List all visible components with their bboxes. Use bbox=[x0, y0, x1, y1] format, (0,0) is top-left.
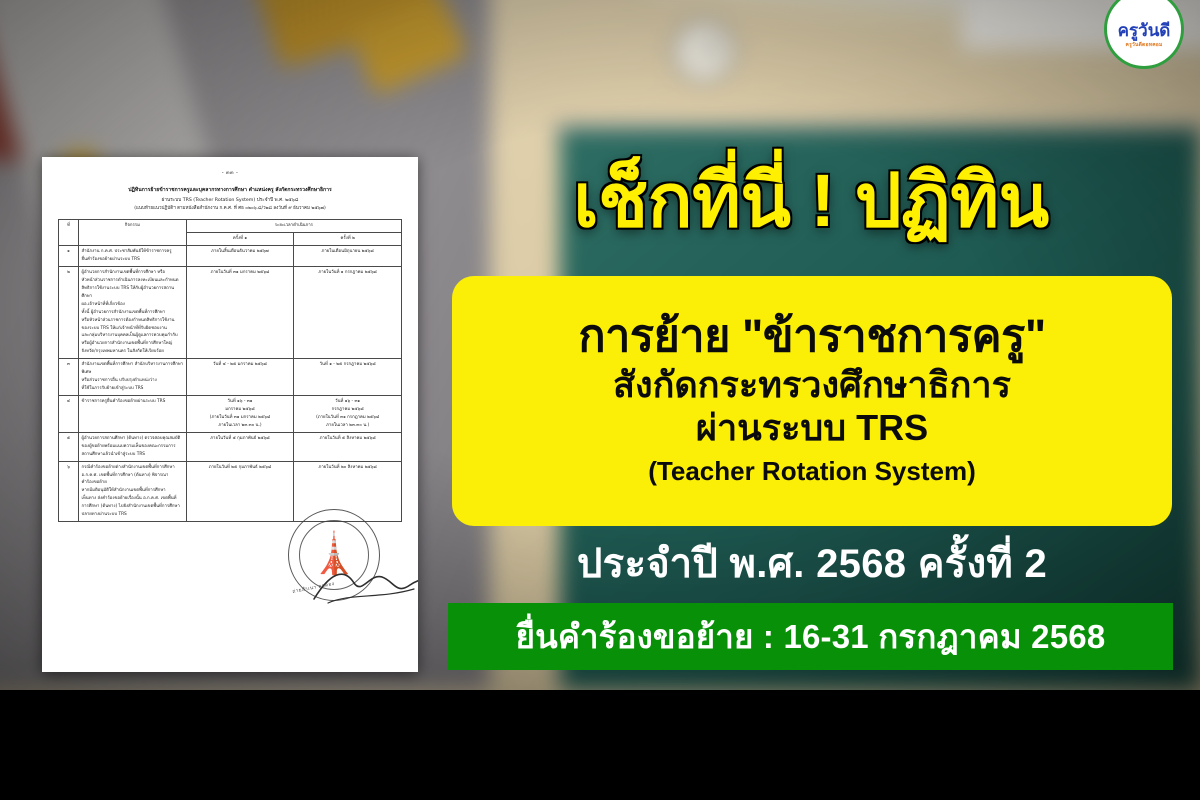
activity-line: หรือส่วนราชการอื่น ปรับปรุงตำแหน่งว่าง bbox=[82, 377, 184, 385]
date-line: ภายในสิ้นเดือนธันวาคม ๒๕๖๗ bbox=[189, 248, 291, 256]
date-line: วันที่ ๑ - ๒๕ กรกฎาคม ๒๕๖๘ bbox=[297, 361, 399, 369]
signature-mark bbox=[310, 555, 418, 613]
site-watermark-logo[interactable]: ครูวันดี ครูวันดีดอทคอม bbox=[1104, 3, 1184, 57]
cell-round-1: ภายในวันที่ ๒๕ กุมภาพันธ์ ๒๕๖๘ bbox=[186, 461, 294, 522]
activity-line: ปลายทางผ่านระบบ TRS bbox=[82, 511, 184, 519]
activity-line: อ.ก.ค.ศ. เขตพื้นที่การศึกษา (ต้นทาง) พิจ… bbox=[82, 472, 184, 480]
activity-line: ทั้งนี้ ผู้อำนวยการสำนักงานเขตพื้นที่การ… bbox=[82, 309, 184, 317]
document-reference-note: (แนบท้ายแนวปฏิบัติฯ ตามหนังสือสำนักงาน ก… bbox=[58, 205, 402, 213]
date-line: ภายในเวลา ๒๓.๓๐ น.) bbox=[189, 422, 291, 430]
year-round-line: ประจำปี พ.ศ. 2568 ครั้งที่ 2 bbox=[452, 540, 1172, 588]
header-round-2: ครั้งที่ ๒ bbox=[294, 233, 402, 246]
calendar-table-head: ที่ กิจกรรม ระยะเวลาดำเนินการ ครั้งที่ ๑… bbox=[59, 220, 402, 246]
cell-activity: ผู้อำนวยการสำนักงานเขตพื้นที่การศึกษา หร… bbox=[79, 266, 187, 358]
calendar-table: ที่ กิจกรรม ระยะเวลาดำเนินการ ครั้งที่ ๑… bbox=[58, 219, 402, 522]
activity-line: ของระบบ TRS ให้แก่เจ้าหน้าที่ที่รับผิดชอ… bbox=[82, 325, 184, 333]
submission-period-bar: ยื่นคำร้องขอย้าย : 16-31 กรกฎาคม 2568 bbox=[448, 603, 1173, 670]
activity-line: หรือหัวหน้าส่วนราชการต้องกำหนดสิทธิการใช… bbox=[82, 317, 184, 325]
card-line-4: (Teacher Rotation System) bbox=[648, 454, 975, 489]
activity-line: กรณีคำร้องขอย้ายต่างสำนักงานเขตพื้นที่กา… bbox=[82, 464, 184, 472]
table-row: ๑สำนักงาน ก.ค.ศ. ประชาสัมพันธ์ให้ข้าราชก… bbox=[59, 246, 402, 267]
date-line: ภายในเวลา ๒๓.๓๐ น.) bbox=[297, 422, 399, 430]
card-line-2: สังกัดกระทรวงศึกษาธิการ bbox=[613, 362, 1011, 409]
cell-activity: ข้าราชการครูยื่นคำร้องขอย้ายผ่านระบบ TRS bbox=[79, 396, 187, 433]
activity-line: ผู้อำนวยการสำนักงานเขตพื้นที่การศึกษา หร… bbox=[82, 269, 184, 277]
date-line: ภายในวันที่ ๒๐ สิงหาคม ๒๕๖๘ bbox=[297, 464, 399, 472]
date-line: ภายในวันที่ ๓๑ มกราคม ๒๕๖๘ bbox=[189, 269, 291, 277]
date-line: ภายในวันที่ ๒๕ กุมภาพันธ์ ๒๕๖๘ bbox=[189, 464, 291, 472]
cell-no: ๖ bbox=[59, 461, 79, 522]
activity-line: สิทธิการใช้งานระบบ TRS ให้กับผู้อำนวยการ… bbox=[82, 285, 184, 301]
activity-line: คำร้องขอย้าย bbox=[82, 479, 184, 487]
date-line: วันที่ ๔ - ๒๕ มกราคม ๒๕๖๘ bbox=[189, 361, 291, 369]
date-line: (ภายในวันที่ ๓๑ มกราคม ๒๕๖๘ bbox=[189, 414, 291, 422]
cell-round-2: วันที่ ๑ - ๒๕ กรกฎาคม ๒๕๖๘ bbox=[294, 359, 402, 396]
activity-line: ผู้อำนวยการสถานศึกษา (ต้นทาง) ตรวจสอบคุณ… bbox=[82, 435, 184, 443]
cell-round-2: ภายในวันที่ ๑ กรกฎาคม ๒๕๖๘ bbox=[294, 266, 402, 358]
card-line-1: การย้าย "ข้าราชการครู" bbox=[578, 309, 1045, 364]
date-line: มกราคม ๒๕๖๘ bbox=[189, 406, 291, 414]
activity-line: สำนักงานเขตพื้นที่การศึกษา สำนักบริหารงา… bbox=[82, 361, 184, 377]
cell-no: ๔ bbox=[59, 396, 79, 433]
cell-round-2: ภายในวันที่ ๕ สิงหาคม ๒๕๖๘ bbox=[294, 432, 402, 461]
date-line: (ภายในวันที่ ๓๑ กรกฎาคม ๒๕๖๘ bbox=[297, 414, 399, 422]
signature-icon bbox=[310, 555, 418, 613]
table-row: ๔ข้าราชการครูยื่นคำร้องขอย้ายผ่านระบบ TR… bbox=[59, 396, 402, 433]
document-page-number: - ๓๓ - bbox=[58, 169, 402, 177]
cell-activity: กรณีคำร้องขอย้ายต่างสำนักงานเขตพื้นที่กา… bbox=[79, 461, 187, 522]
cell-round-2: วันที่ ๑๖ - ๓๑กรกฎาคม ๒๕๖๘(ภายในวันที่ ๓… bbox=[294, 396, 402, 433]
document-title: ปฏิทินการย้ายข้าราชการครูและบุคลากรทางกา… bbox=[58, 186, 402, 195]
cell-round-1: ภายในวันที่ ๕ กุมภาพันธ์ ๒๕๖๘ bbox=[186, 432, 294, 461]
activity-line: ยื่นคำร้องขอย้ายผ่านระบบ TRS bbox=[82, 256, 184, 264]
cell-round-2: ภายในเดือนมิถุนายน ๒๕๖๘ bbox=[294, 246, 402, 267]
yellow-info-card: การย้าย "ข้าราชการครู" สังกัดกระทรวงศึกษ… bbox=[452, 276, 1172, 526]
activity-line: ข้าราชการครูยื่นคำร้องขอย้ายผ่านระบบ TRS bbox=[82, 398, 184, 406]
activity-line: หากมีมติอนุมัติให้สำนักงานเขตพื้นที่การศ… bbox=[82, 487, 184, 495]
activity-line: ที่ใช้ในการรับย้ายเข้าสู่ระบบ TRS bbox=[82, 385, 184, 393]
calendar-table-body: ๑สำนักงาน ก.ค.ศ. ประชาสัมพันธ์ให้ข้าราชก… bbox=[59, 246, 402, 522]
cell-round-1: วันที่ ๑๖ - ๓๑มกราคม ๒๕๖๘(ภายในวันที่ ๓๑… bbox=[186, 396, 294, 433]
bottom-black-band bbox=[0, 690, 1200, 800]
header-no: ที่ bbox=[59, 220, 79, 246]
activity-line: ของผู้ขอย้ายพร้อมแนบความเห็นของคณะกรรมกา… bbox=[82, 443, 184, 451]
date-line: ภายในวันที่ ๕ กุมภาพันธ์ ๒๕๖๘ bbox=[189, 435, 291, 443]
poster-headline: เช็กที่นี่ ! ปฏิทิน bbox=[450, 160, 1172, 243]
date-line: กรกฎาคม ๒๕๖๘ bbox=[297, 406, 399, 414]
cell-activity: ผู้อำนวยการสถานศึกษา (ต้นทาง) ตรวจสอบคุณ… bbox=[79, 432, 187, 461]
activity-line: ผอ.เจ้าหน้าที่ที่เกี่ยวข้อง bbox=[82, 301, 184, 309]
activity-line: สถานศึกษาแล้วนำเข้าสู่ระบบ TRS bbox=[82, 451, 184, 459]
table-row: ๓สำนักงานเขตพื้นที่การศึกษา สำนักบริหารง… bbox=[59, 359, 402, 396]
activity-line: การศึกษา (ต้นทาง) ไปยังสำนักงานเขตพื้นที… bbox=[82, 503, 184, 511]
cell-no: ๕ bbox=[59, 432, 79, 461]
date-line: ภายในวันที่ ๕ สิงหาคม ๒๕๖๘ bbox=[297, 435, 399, 443]
activity-line: จังหวัด/กรุงเทพมหานคร ในสังกัดให้เรียบร้… bbox=[82, 348, 184, 356]
table-row: ๕ผู้อำนวยการสถานศึกษา (ต้นทาง) ตรวจสอบคุ… bbox=[59, 432, 402, 461]
cell-activity: สำนักงานเขตพื้นที่การศึกษา สำนักบริหารงา… bbox=[79, 359, 187, 396]
poster-canvas: - ๓๓ - ปฏิทินการย้ายข้าราชการครูและบุคลา… bbox=[0, 0, 1200, 800]
cell-activity: สำนักงาน ก.ค.ศ. ประชาสัมพันธ์ให้ข้าราชกา… bbox=[79, 246, 187, 267]
cell-round-1: วันที่ ๔ - ๒๕ มกราคม ๒๕๖๘ bbox=[186, 359, 294, 396]
cell-no: ๑ bbox=[59, 246, 79, 267]
date-line: ภายในวันที่ ๑ กรกฎาคม ๒๕๖๘ bbox=[297, 269, 399, 277]
submission-period-text: ยื่นคำร้องขอย้าย : 16-31 กรกฎาคม 2568 bbox=[516, 610, 1106, 663]
table-row: ๒ผู้อำนวยการสำนักงานเขตพื้นที่การศึกษา ห… bbox=[59, 266, 402, 358]
activity-line: สำนักงาน ก.ค.ศ. ประชาสัมพันธ์ให้ข้าราชกา… bbox=[82, 248, 184, 256]
date-line: ภายในเดือนมิถุนายน ๒๕๖๘ bbox=[297, 248, 399, 256]
activity-line: หัวหน้าส่วนราชการดำเนินการลงทะเบียนและกำ… bbox=[82, 277, 184, 285]
cell-round-1: ภายในสิ้นเดือนธันวาคม ๒๕๖๗ bbox=[186, 246, 294, 267]
header-round-1: ครั้งที่ ๑ bbox=[186, 233, 294, 246]
cell-round-1: ภายในวันที่ ๓๑ มกราคม ๒๕๖๘ bbox=[186, 266, 294, 358]
date-line: วันที่ ๑๖ - ๓๑ bbox=[189, 398, 291, 406]
logo-main-text: ครูวันดี bbox=[1118, 22, 1171, 39]
cell-no: ๓ bbox=[59, 359, 79, 396]
activity-line: เห็นทาง ส่งคำร้องขอย้ายเรื่องนั้น อ.ก.ค.… bbox=[82, 495, 184, 503]
card-line-3: ผ่านระบบ TRS bbox=[696, 405, 928, 452]
header-period: ระยะเวลาดำเนินการ bbox=[186, 220, 401, 233]
logo-sub-text: ครูวันดีดอทคอม bbox=[1126, 41, 1163, 49]
cell-no: ๒ bbox=[59, 266, 79, 358]
header-activity: กิจกรรม bbox=[79, 220, 187, 246]
activity-line: และกลุ่มบริหารงานบุคคลเป็นผู้ดูแลการควบค… bbox=[82, 332, 184, 340]
table-header-row-1: ที่ กิจกรรม ระยะเวลาดำเนินการ bbox=[59, 220, 402, 233]
date-line: วันที่ ๑๖ - ๓๑ bbox=[297, 398, 399, 406]
activity-line: หรือผู้อำนวยการสำนักงานเขตพื้นที่การศึกษ… bbox=[82, 340, 184, 348]
calendar-document: - ๓๓ - ปฏิทินการย้ายข้าราชการครูและบุคลา… bbox=[42, 157, 418, 672]
document-subtitle: ผ่านระบบ TRS (Teacher Rotation System) ป… bbox=[58, 197, 402, 205]
